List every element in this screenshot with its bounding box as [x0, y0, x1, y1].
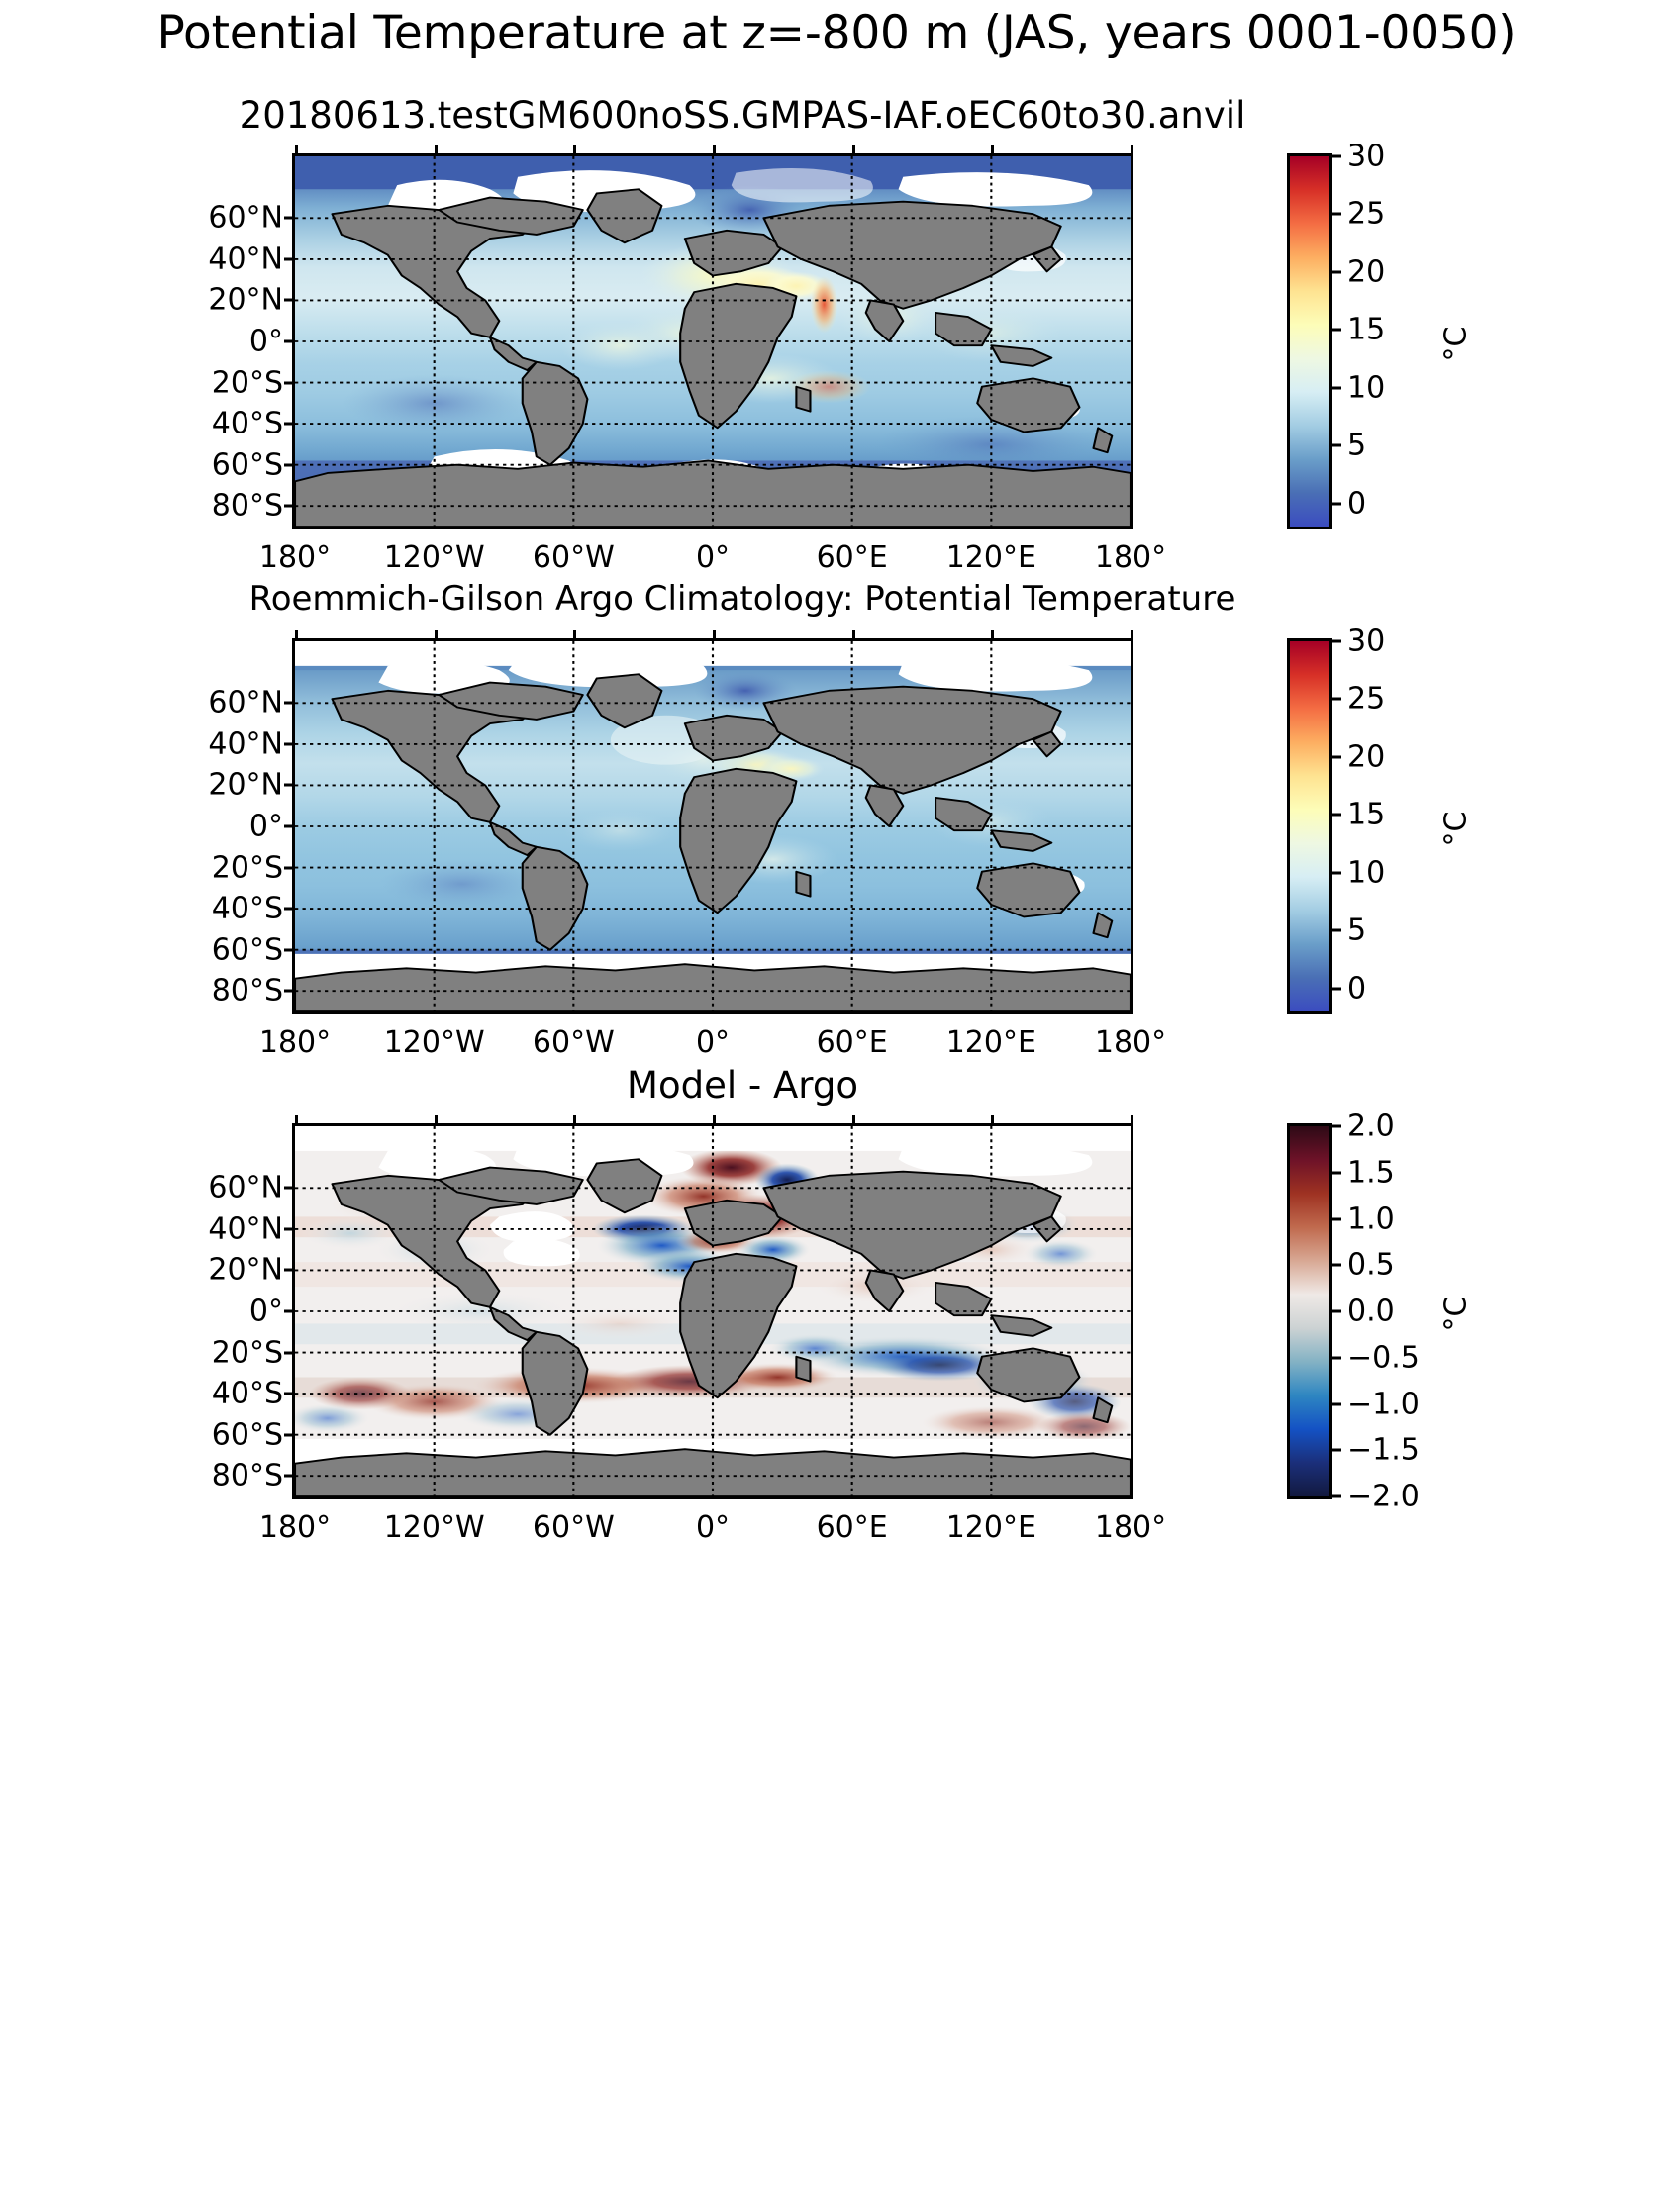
xtick-mark-argo-4 — [852, 630, 855, 641]
colorbar-tick-mark-argo-1 — [1329, 929, 1341, 932]
xtick-label-argo-0: 180° — [259, 1011, 331, 1060]
xtick-mark-model-3 — [713, 145, 716, 156]
colorbar-tick-mark-argo-2 — [1329, 871, 1341, 874]
map-axes-model[interactable]: 60°N40°N20°N0°20°S40°S60°S80°S180°120°W6… — [292, 153, 1133, 529]
colorbar-tick-label-difference-1: −1.5 — [1329, 1433, 1420, 1468]
colorbar-tick-mark-model-1 — [1329, 444, 1341, 447]
xtick-label-difference-4: 60°E — [817, 1496, 888, 1545]
xtick-mark-model-1 — [435, 145, 438, 156]
xtick-mark-model-5 — [991, 145, 994, 156]
ytick-label-difference-5: 40°S — [212, 1377, 295, 1411]
ytick-mark-argo-4 — [284, 866, 295, 869]
xtick-label-model-0: 180° — [259, 527, 331, 575]
xtick-label-model-6: 180° — [1095, 527, 1166, 575]
colorbar-tick-mark-difference-8 — [1329, 1125, 1341, 1128]
ytick-label-difference-7: 80°S — [212, 1459, 295, 1493]
ytick-label-difference-4: 20°S — [212, 1335, 295, 1370]
xtick-label-argo-2: 60°W — [533, 1011, 615, 1060]
ytick-mark-model-1 — [284, 257, 295, 260]
ytick-mark-difference-3 — [284, 1310, 295, 1313]
xtick-label-difference-1: 120°W — [384, 1496, 485, 1545]
ytick-mark-argo-6 — [284, 948, 295, 951]
xtick-label-model-2: 60°W — [533, 527, 615, 575]
ytick-label-difference-2: 20°N — [208, 1253, 295, 1288]
colorbar-tick-mark-difference-1 — [1329, 1449, 1341, 1452]
colorbar-tick-mark-model-2 — [1329, 386, 1341, 389]
ytick-mark-argo-7 — [284, 990, 295, 993]
xtick-label-difference-3: 0° — [696, 1496, 730, 1545]
colorbar-tick-label-difference-0: −2.0 — [1329, 1480, 1420, 1514]
panel-argo-title: Roemmich-Gilson Argo Climatology: Potent… — [119, 579, 1366, 619]
colorbar-tick-mark-difference-5 — [1329, 1264, 1341, 1267]
xtick-mark-difference-0 — [295, 1115, 298, 1126]
colorbar-model: 051015202530°C — [1287, 153, 1332, 529]
map-gridlines-argo — [295, 641, 1131, 1011]
xtick-mark-difference-5 — [991, 1115, 994, 1126]
colorbar-tick-mark-argo-0 — [1329, 987, 1341, 990]
ytick-label-argo-7: 80°S — [212, 974, 295, 1009]
ytick-label-model-0: 60°N — [208, 201, 295, 236]
xtick-label-argo-4: 60°E — [817, 1011, 888, 1060]
ytick-mark-difference-4 — [284, 1351, 295, 1354]
colorbar-tick-mark-argo-5 — [1329, 698, 1341, 701]
ytick-mark-argo-1 — [284, 742, 295, 745]
xtick-label-difference-2: 60°W — [533, 1496, 615, 1545]
ytick-mark-model-0 — [284, 217, 295, 220]
xtick-mark-model-0 — [295, 145, 298, 156]
colorbar-tick-mark-difference-3 — [1329, 1356, 1341, 1359]
colorbar-tick-mark-model-0 — [1329, 502, 1341, 505]
ytick-label-model-4: 20°S — [212, 365, 295, 400]
ytick-label-argo-2: 20°N — [208, 768, 295, 803]
ytick-mark-difference-5 — [284, 1393, 295, 1395]
colorbar-tick-label-difference-2: −1.0 — [1329, 1387, 1420, 1421]
colorbar-tick-mark-difference-0 — [1329, 1495, 1341, 1498]
xtick-label-difference-0: 180° — [259, 1496, 331, 1545]
xtick-mark-model-4 — [852, 145, 855, 156]
ytick-label-argo-1: 40°N — [208, 726, 295, 761]
colorbar-tick-mark-argo-6 — [1329, 640, 1341, 643]
xtick-label-difference-5: 120°E — [946, 1496, 1036, 1545]
colorbar-unit-label-argo: °C — [1438, 812, 1473, 847]
ytick-mark-argo-5 — [284, 908, 295, 911]
ytick-mark-difference-1 — [284, 1227, 295, 1230]
ytick-label-difference-0: 60°N — [208, 1171, 295, 1205]
colorbar-tick-label-difference-3: −0.5 — [1329, 1340, 1420, 1375]
colorbar-unit-label-difference: °C — [1438, 1297, 1473, 1332]
panel-difference-title: Model - Argo — [119, 1064, 1366, 1106]
map-gridlines-difference — [295, 1126, 1131, 1496]
colorbar-tick-mark-difference-2 — [1329, 1402, 1341, 1405]
ytick-mark-model-2 — [284, 299, 295, 302]
ytick-mark-model-7 — [284, 505, 295, 508]
ytick-label-model-6: 60°S — [212, 447, 295, 482]
ytick-mark-argo-3 — [284, 825, 295, 828]
ytick-label-argo-6: 60°S — [212, 932, 295, 967]
xtick-mark-argo-1 — [435, 630, 438, 641]
ytick-mark-difference-7 — [284, 1475, 295, 1478]
ytick-mark-difference-0 — [284, 1187, 295, 1190]
xtick-mark-difference-6 — [1131, 1115, 1133, 1126]
xtick-label-model-3: 0° — [696, 527, 730, 575]
ytick-mark-argo-2 — [284, 784, 295, 787]
panel-model-title: 20180613.testGM600noSS.GMPAS-IAF.oEC60to… — [119, 94, 1366, 137]
colorbar-tick-mark-model-4 — [1329, 270, 1341, 273]
xtick-mark-argo-3 — [713, 630, 716, 641]
xtick-mark-argo-2 — [573, 630, 576, 641]
xtick-mark-model-6 — [1131, 145, 1133, 156]
colorbar-unit-label-model: °C — [1438, 327, 1473, 362]
ytick-mark-difference-6 — [284, 1433, 295, 1436]
ytick-label-argo-0: 60°N — [208, 686, 295, 721]
xtick-label-argo-1: 120°W — [384, 1011, 485, 1060]
map-gridlines-model — [295, 156, 1131, 527]
xtick-mark-argo-5 — [991, 630, 994, 641]
xtick-label-model-5: 120°E — [946, 527, 1036, 575]
figure-root: Potential Temperature at z=-800 m (JAS, … — [0, 0, 1673, 2212]
xtick-mark-argo-6 — [1131, 630, 1133, 641]
ytick-label-difference-1: 40°N — [208, 1211, 295, 1246]
ytick-label-argo-5: 40°S — [212, 892, 295, 926]
colorbar-tick-mark-difference-6 — [1329, 1217, 1341, 1220]
xtick-mark-argo-0 — [295, 630, 298, 641]
xtick-mark-difference-3 — [713, 1115, 716, 1126]
xtick-label-argo-5: 120°E — [946, 1011, 1036, 1060]
xtick-label-model-1: 120°W — [384, 527, 485, 575]
ytick-mark-argo-0 — [284, 702, 295, 705]
xtick-mark-difference-1 — [435, 1115, 438, 1126]
colorbar-tick-mark-difference-4 — [1329, 1310, 1341, 1313]
ytick-mark-model-4 — [284, 381, 295, 384]
ytick-mark-model-3 — [284, 340, 295, 343]
xtick-mark-difference-2 — [573, 1115, 576, 1126]
xtick-label-difference-6: 180° — [1095, 1496, 1166, 1545]
colorbar-tick-mark-model-3 — [1329, 329, 1341, 332]
colorbar-tick-mark-argo-3 — [1329, 814, 1341, 817]
ytick-label-model-5: 40°S — [212, 407, 295, 441]
ytick-label-argo-4: 20°S — [212, 850, 295, 885]
figure-suptitle: Potential Temperature at z=-800 m (JAS, … — [0, 6, 1673, 60]
colorbar-tick-mark-difference-7 — [1329, 1171, 1341, 1174]
colorbar-tick-mark-argo-4 — [1329, 755, 1341, 758]
map-axes-difference[interactable]: 60°N40°N20°N0°20°S40°S60°S80°S180°120°W6… — [292, 1123, 1133, 1499]
colorbar-tick-mark-model-5 — [1329, 213, 1341, 216]
ytick-label-model-7: 80°S — [212, 489, 295, 524]
ytick-mark-model-5 — [284, 423, 295, 426]
colorbar-difference: −2.0−1.5−1.0−0.50.00.51.01.52.0°C — [1287, 1123, 1332, 1499]
ytick-label-difference-6: 60°S — [212, 1417, 295, 1452]
ytick-mark-difference-2 — [284, 1269, 295, 1272]
ytick-mark-model-6 — [284, 463, 295, 466]
ytick-label-model-1: 40°N — [208, 241, 295, 276]
ytick-label-model-2: 20°N — [208, 283, 295, 318]
colorbar-argo: 051015202530°C — [1287, 638, 1332, 1014]
xtick-label-argo-6: 180° — [1095, 1011, 1166, 1060]
xtick-label-model-4: 60°E — [817, 527, 888, 575]
xtick-mark-difference-4 — [852, 1115, 855, 1126]
map-axes-argo[interactable]: 60°N40°N20°N0°20°S40°S60°S80°S180°120°W6… — [292, 638, 1133, 1014]
colorbar-tick-mark-model-6 — [1329, 155, 1341, 158]
xtick-label-argo-3: 0° — [696, 1011, 730, 1060]
xtick-mark-model-2 — [573, 145, 576, 156]
